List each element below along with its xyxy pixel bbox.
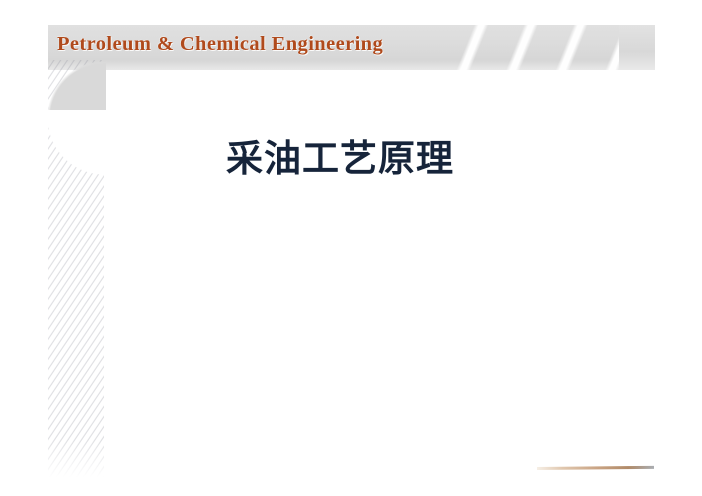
presentation-slide: Petroleum & Chemical Engineering 采油工艺原理 (0, 0, 702, 496)
hatch-bottom-fade (48, 440, 104, 488)
slide-header-band: Petroleum & Chemical Engineering (48, 25, 655, 70)
accent-rule-icon (537, 466, 654, 470)
header-band-right-fade (619, 25, 655, 70)
header-title: Petroleum & Chemical Engineering (57, 33, 383, 56)
diagonal-hatch-icon (48, 60, 104, 482)
slide-title: 采油工艺原理 (226, 128, 454, 182)
